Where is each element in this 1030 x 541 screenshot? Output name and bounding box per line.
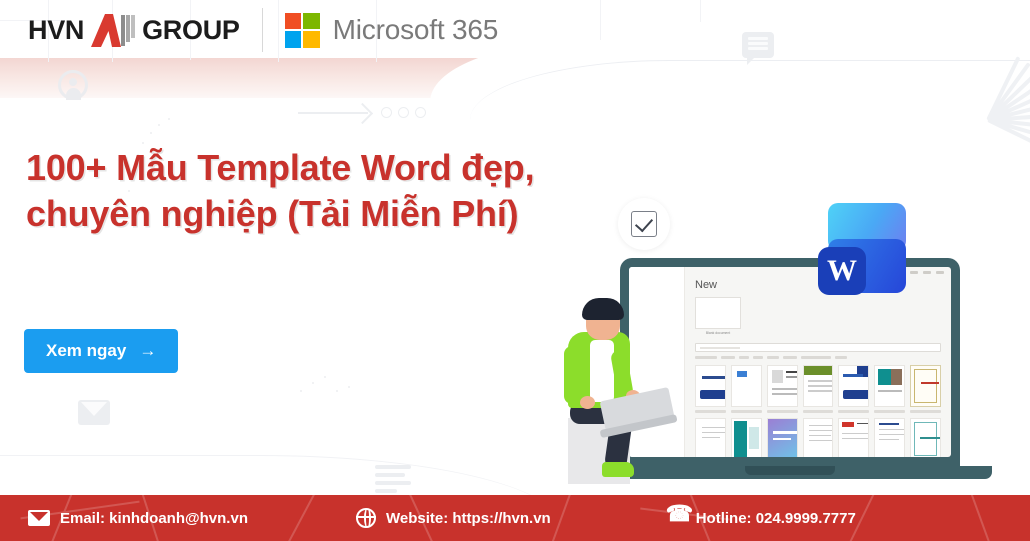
arrow-right-icon: → [139,341,156,361]
microsoft-word-icon: W [818,203,906,295]
template-card[interactable] [767,365,798,413]
template-card[interactable] [910,418,941,458]
dot-decoration [415,107,426,118]
globe-icon [356,508,376,528]
view-now-button[interactable]: Xem ngay → [24,329,178,373]
template-card[interactable] [838,365,869,413]
template-card[interactable] [695,365,726,413]
hvn-group-text: GROUP [142,15,240,46]
word-letter-badge: W [818,247,866,295]
hvn-chevron-icon [91,14,121,47]
template-card[interactable] [874,365,905,413]
hvn-chevron-mark-icon [91,12,135,48]
microsoft-365-logo[interactable]: Microsoft 365 [285,13,498,48]
grid-line [700,0,701,22]
user-avatar-icon [58,70,88,100]
list-lines-icon [375,465,411,493]
footer-email-label: Email: kinhdoanh@hvn.vn [60,510,248,527]
header-divider [262,8,263,52]
person-shirt [590,340,614,402]
microsoft-squares-icon [285,13,320,48]
blank-document-label: Blank document [695,331,741,335]
footer-email[interactable]: Email: kinhdoanh@hvn.vn [28,510,248,527]
template-card[interactable] [731,365,762,413]
template-card[interactable] [838,418,869,458]
footer-hotline-label: Hotline: 024.9999.7777 [696,510,856,527]
cta-label: Xem ngay [46,341,126,361]
footer-website-label: Website: https://hvn.vn [386,510,551,527]
template-card[interactable] [803,365,834,413]
headline-line-1: 100+ Mẫu Template Word đẹp, [26,145,636,191]
pink-band-curve-mask [430,42,1030,132]
grid-line [600,0,601,40]
headline-line-2: chuyên nghiệp (Tải Miễn Phí) [26,191,636,237]
envelope-icon [78,400,110,425]
arrow-right-icon [298,112,368,114]
laptop-trackpad-notch [745,466,835,475]
hvn-group-logo[interactable]: HVN GROUP [28,12,240,48]
pink-gradient-band [0,58,1030,98]
envelope-icon [28,510,50,526]
person-arm-left [564,346,582,404]
phone-icon [666,508,686,528]
chat-bubble-icon [742,32,774,58]
template-search-input[interactable] [695,343,941,352]
curve-line-top [470,60,1030,120]
template-filter-row[interactable] [695,356,941,359]
promo-banner: HVN GROUP Microsoft 365 100+ Mẫu [0,0,1030,541]
hvn-brand-text: HVN [28,15,84,46]
footer-hotline[interactable]: Hotline: 024.9999.7777 [666,508,856,528]
template-card[interactable] [731,418,762,458]
person-shoe [602,462,634,477]
template-card[interactable] [874,418,905,458]
word-main-pane: New Blank document [685,267,951,457]
person-hand-left [580,396,595,409]
person-hair [582,298,624,320]
template-grid [695,365,941,457]
footer-website[interactable]: Website: https://hvn.vn [356,508,551,528]
blank-document-thumbnail[interactable] [695,297,741,329]
page-title: 100+ Mẫu Template Word đẹp, chuyên nghiệ… [26,145,636,236]
template-card[interactable] [695,418,726,458]
dot-decoration [381,107,392,118]
microsoft-365-label: Microsoft 365 [333,14,498,46]
brand-header: HVN GROUP Microsoft 365 [28,8,498,52]
person-illustration [540,290,690,485]
contact-footer: Email: kinhdoanh@hvn.vn Website: https:/… [0,495,1030,541]
template-card[interactable] [910,365,941,413]
template-card[interactable] [803,418,834,458]
template-card[interactable] [767,418,798,458]
dot-decoration [398,107,409,118]
